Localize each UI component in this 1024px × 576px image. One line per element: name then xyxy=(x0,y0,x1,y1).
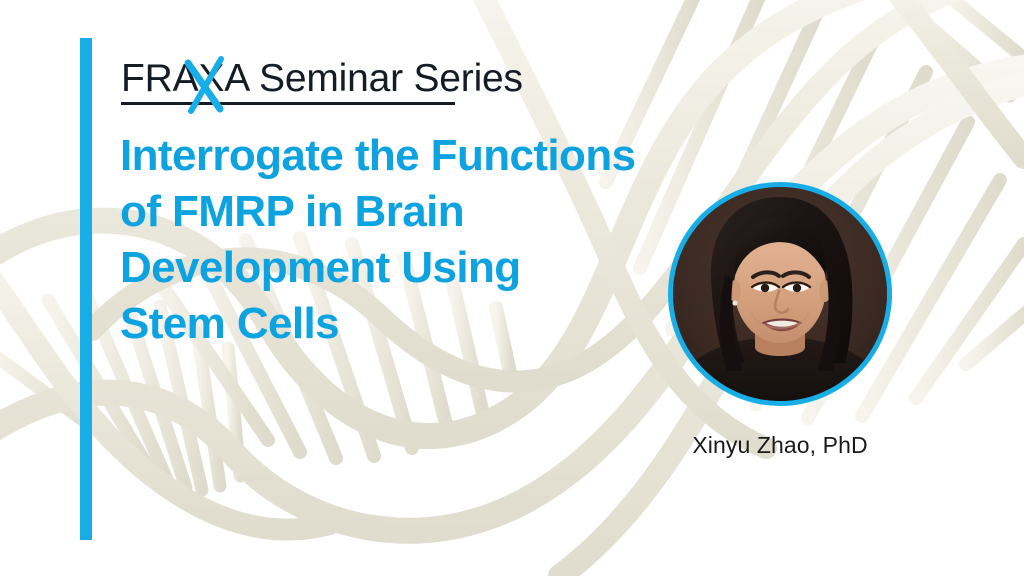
speaker-portrait-photo xyxy=(673,187,887,401)
seminar-series-label: Seminar Series xyxy=(259,57,523,100)
title-line-3: Development Using xyxy=(120,240,720,296)
seminar-slide: FRAXASeminar Series Interrogate the Func… xyxy=(0,0,1024,576)
title-line-2: of FMRP in Brain xyxy=(120,184,720,240)
avatar xyxy=(668,182,892,406)
speaker-name: Xinyu Zhao, PhD xyxy=(645,432,915,459)
fraxa-x-icon xyxy=(182,53,228,115)
title-line-4: Stem Cells xyxy=(120,296,720,352)
portrait-clip xyxy=(673,187,887,401)
logo-wordmark-row: FRAXASeminar Series xyxy=(121,55,551,103)
speaker-block: Xinyu Zhao, PhD xyxy=(645,182,915,459)
title-line-1: Interrogate the Functions xyxy=(120,128,720,184)
page-title: Interrogate the Functions of FMRP in Bra… xyxy=(120,128,720,352)
logo-underline-rule xyxy=(121,102,455,105)
fraxa-seminar-series-logo: FRAXASeminar Series xyxy=(121,55,551,103)
vertical-accent-bar xyxy=(80,38,92,540)
